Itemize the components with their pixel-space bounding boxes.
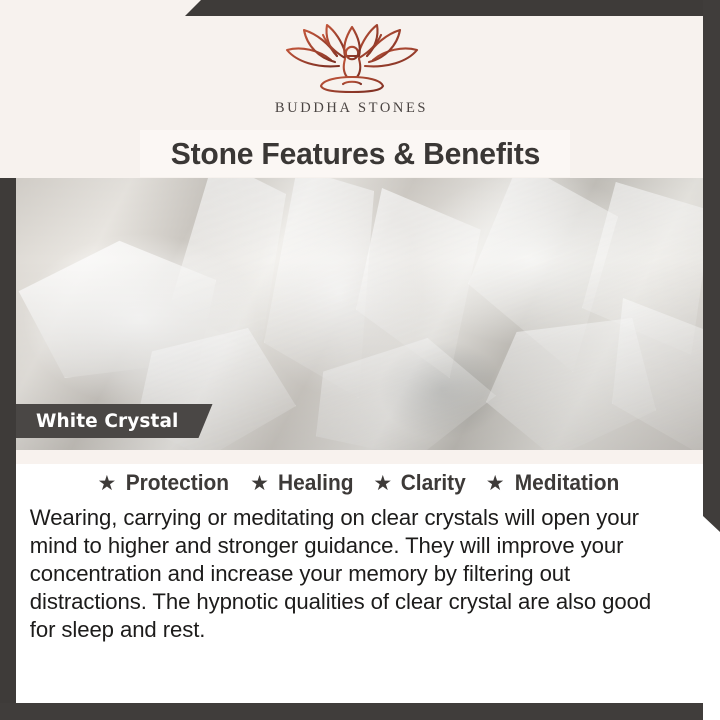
benefit-label: Healing [278, 470, 353, 496]
benefit-item-healing: ★ Healing [241, 470, 364, 496]
benefits-row: ★ Protection ★ Healing ★ Clarity ★ Medit… [16, 464, 703, 496]
stone-name-tag: White Crystal [16, 404, 213, 438]
page-title-band: Stone Features & Benefits [140, 130, 570, 177]
page-title: Stone Features & Benefits [170, 136, 539, 172]
benefit-item-clarity: ★ Clarity [364, 470, 476, 496]
benefit-item-protection: ★ Protection [88, 470, 241, 496]
stone-name-label: White Crystal [36, 411, 179, 432]
frame-left-bar [0, 178, 16, 703]
content-panel: ★ Protection ★ Healing ★ Clarity ★ Medit… [16, 464, 703, 703]
brand-logo-block: BUDDHA STONES [0, 22, 703, 117]
stone-features-card: BUDDHA STONES Stone Features & Benefits … [0, 0, 720, 720]
star-icon: ★ [373, 473, 392, 494]
brand-wordmark: BUDDHA STONES [0, 100, 703, 117]
frame-bottom-bar [0, 703, 703, 720]
star-icon: ★ [486, 473, 505, 494]
stone-description: Wearing, carrying or meditating on clear… [16, 504, 693, 644]
benefit-item-meditation: ★ Meditation [477, 470, 631, 496]
benefit-label: Meditation [514, 470, 619, 496]
star-icon: ★ [97, 473, 116, 494]
star-icon: ★ [250, 473, 269, 494]
benefit-label: Protection [126, 470, 229, 496]
benefit-label: Clarity [401, 470, 466, 496]
divider-strip [16, 450, 703, 464]
lotus-meditation-logo-icon [277, 22, 427, 94]
frame-right-bar [703, 0, 720, 532]
frame-top-bar [185, 0, 720, 16]
